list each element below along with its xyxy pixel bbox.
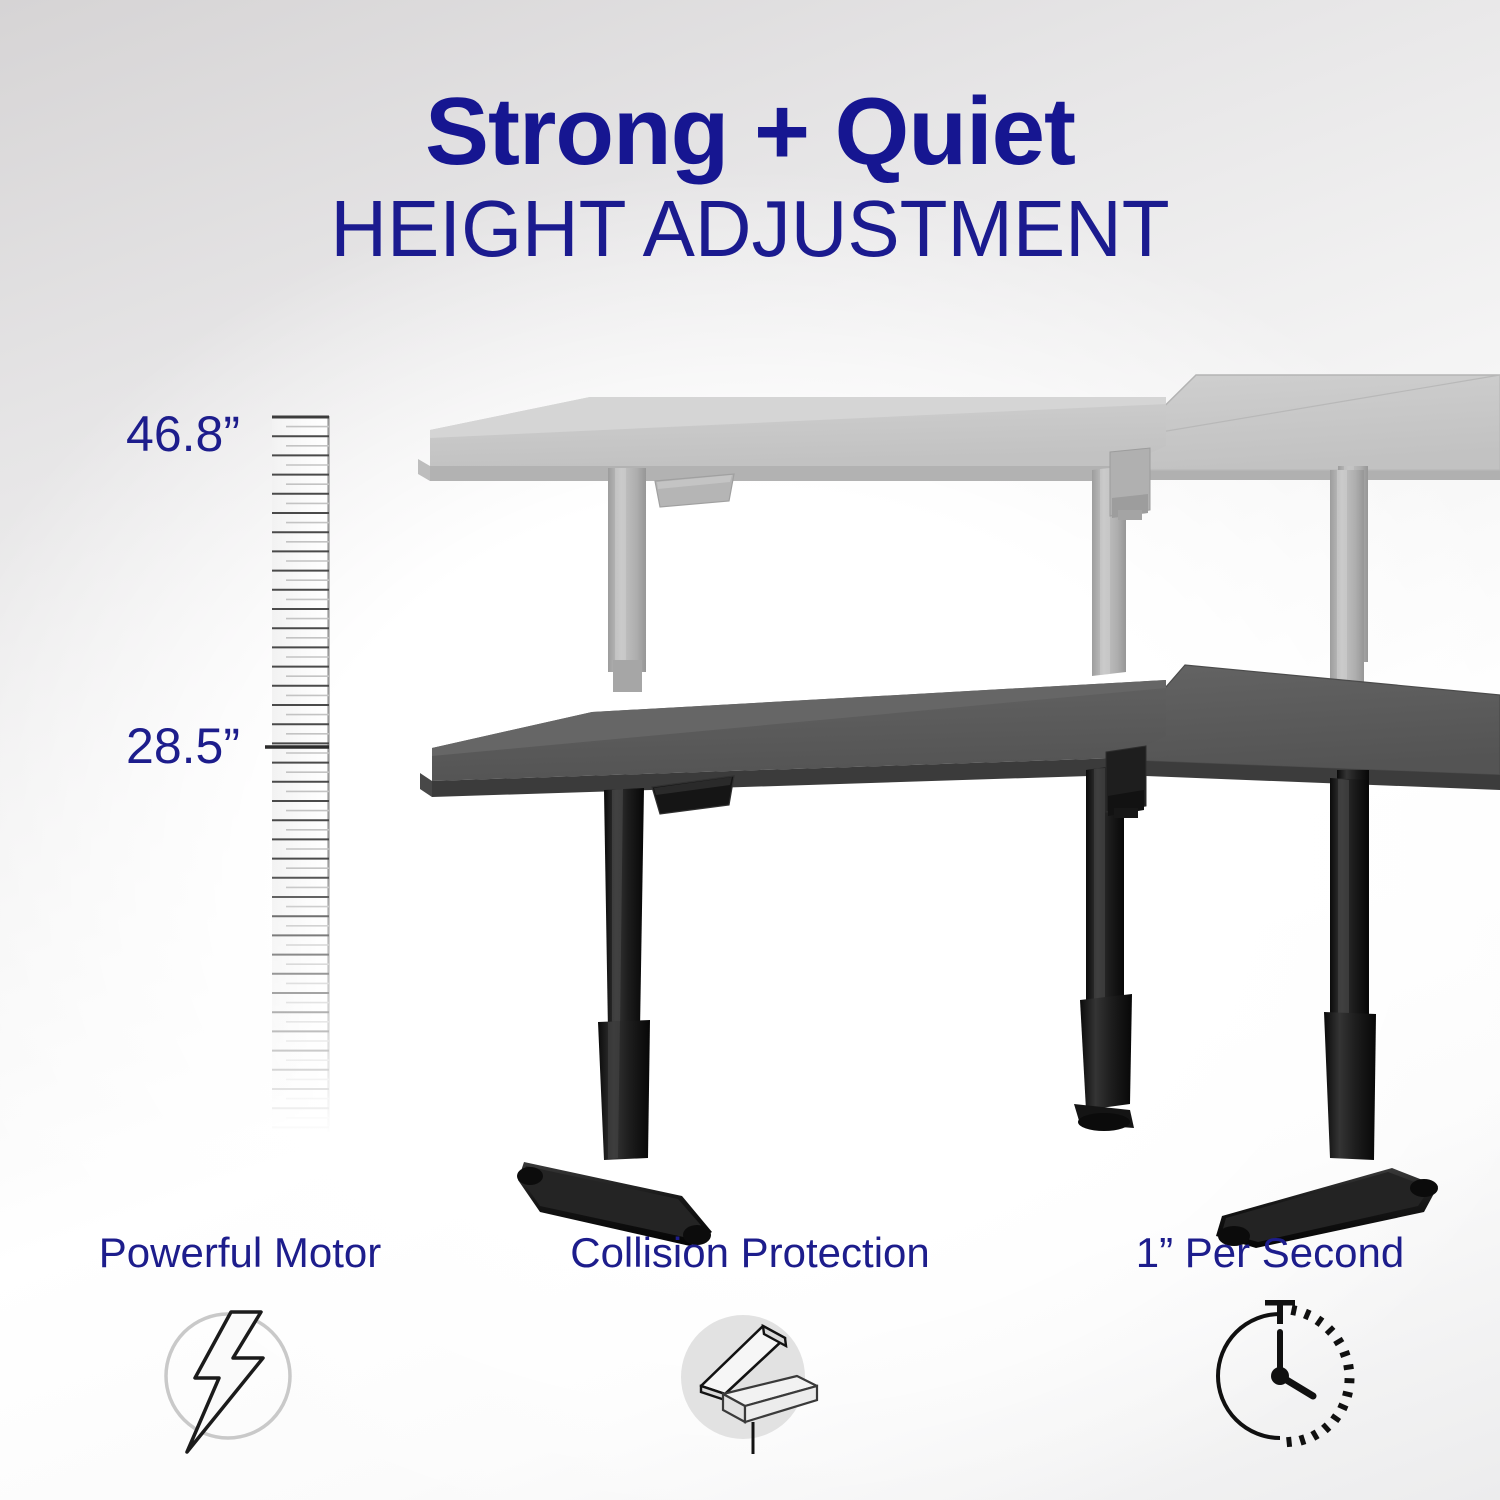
clock-icon	[1185, 1294, 1375, 1469]
clock-top-marker	[1265, 1300, 1295, 1324]
feature-row: Powerful Motor Collision Protection 1” P…	[0, 1232, 1500, 1500]
feature-speed: 1” Per Second	[1000, 1232, 1500, 1500]
feature-label: Powerful Motor	[99, 1232, 381, 1274]
feature-label: Collision Protection	[570, 1232, 930, 1274]
collision-surfaces-icon	[645, 1294, 835, 1469]
feature-powerful-motor: Powerful Motor	[0, 1232, 500, 1500]
lightning-bolt-icon	[133, 1294, 323, 1469]
feature-label: 1” Per Second	[1136, 1232, 1405, 1274]
feature-collision-protection: Collision Protection	[500, 1232, 1000, 1500]
